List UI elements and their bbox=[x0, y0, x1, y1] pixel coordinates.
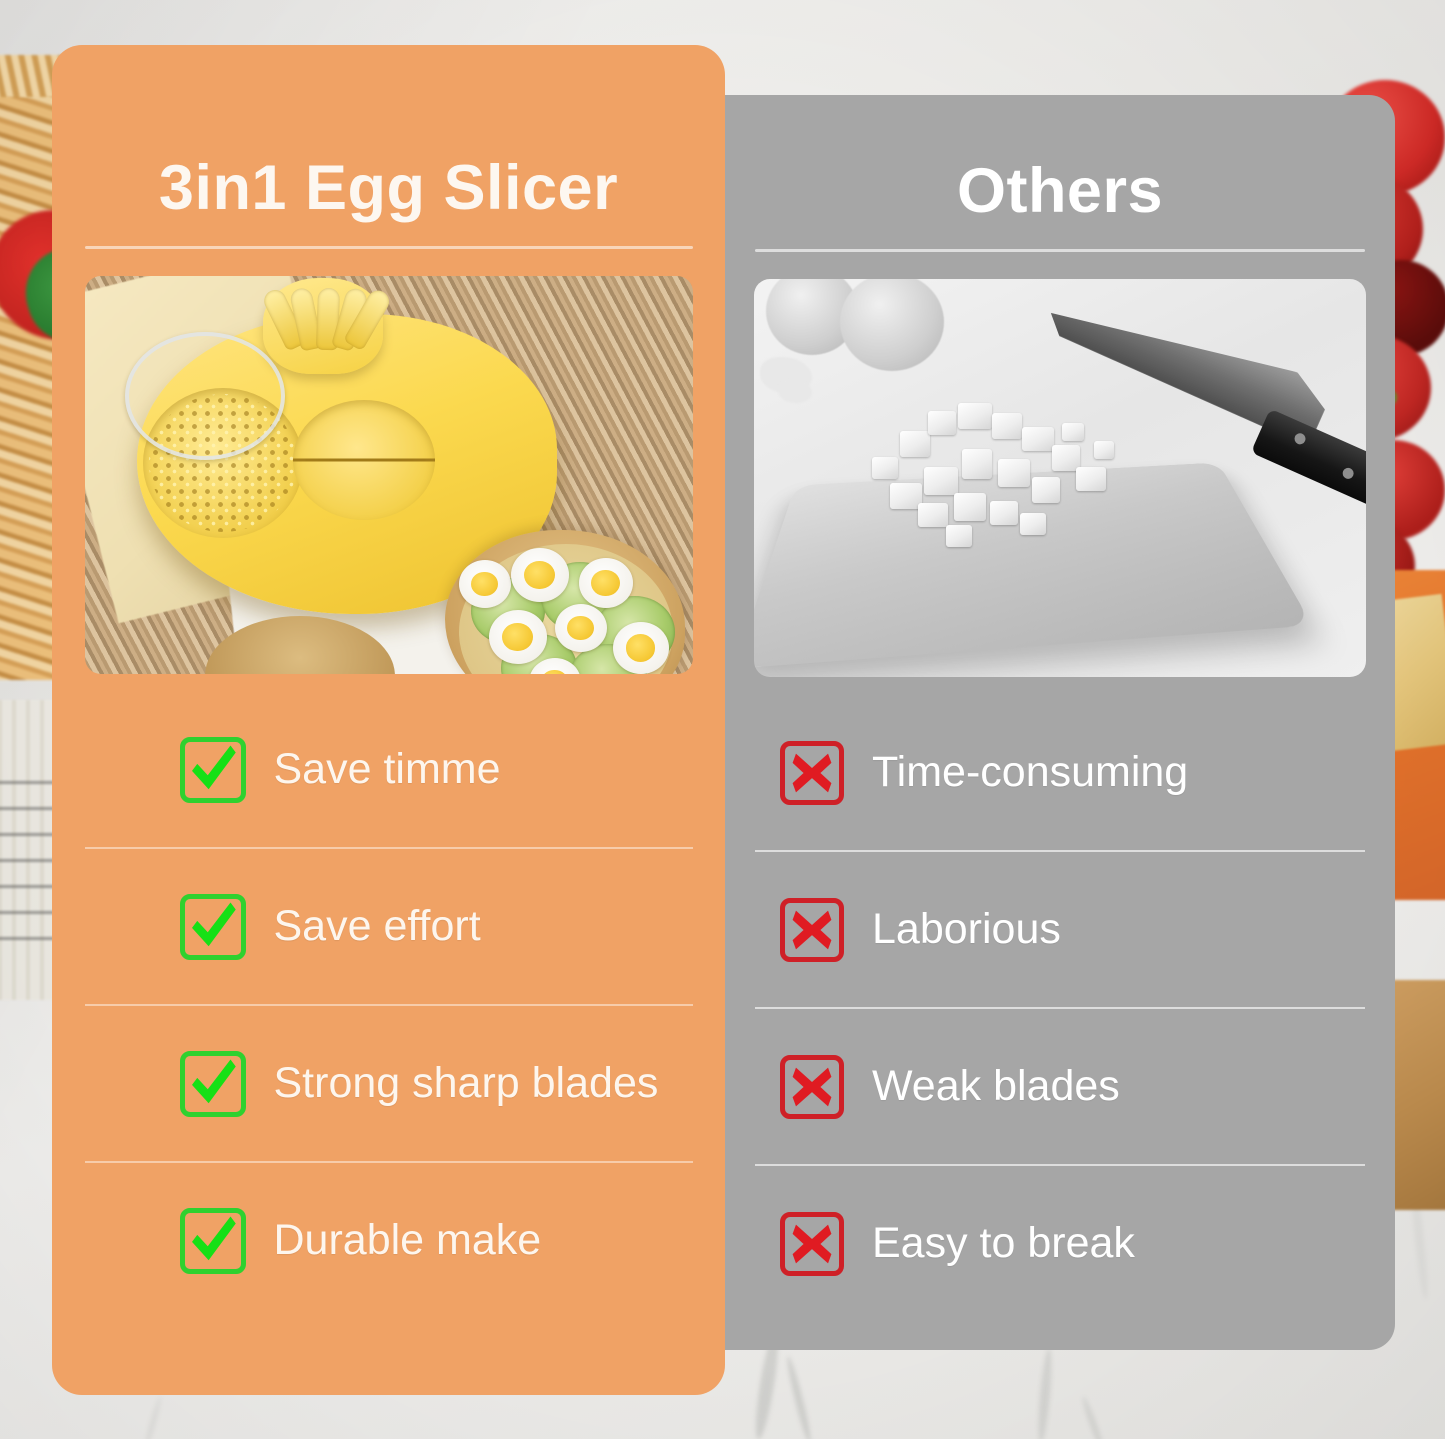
product-photo bbox=[85, 276, 693, 674]
list-item[interactable]: Weak blades bbox=[755, 1009, 1365, 1164]
others-panel: Others bbox=[725, 95, 1395, 1350]
list-item[interactable]: Save effort bbox=[85, 849, 693, 1004]
title-divider bbox=[755, 249, 1365, 252]
others-photo bbox=[754, 279, 1366, 677]
list-item-label: Strong sharp blades bbox=[274, 1061, 659, 1106]
comparison-infographic: Others bbox=[0, 0, 1445, 1439]
others-feature-list: Time-consuming Laborious Weak blad bbox=[755, 677, 1365, 1321]
list-item[interactable]: Laborious bbox=[755, 852, 1365, 1007]
product-panel: 3in1 Egg Slicer bbox=[52, 45, 725, 1395]
title-divider bbox=[85, 246, 693, 249]
list-item[interactable]: Strong sharp blades bbox=[85, 1006, 693, 1161]
list-item[interactable]: Time-consuming bbox=[755, 695, 1365, 850]
whole-egg bbox=[840, 279, 944, 371]
list-item[interactable]: Durable make bbox=[85, 1163, 693, 1318]
cross-icon bbox=[780, 1055, 844, 1119]
list-item-label: Time-consuming bbox=[872, 750, 1188, 795]
cross-icon bbox=[780, 898, 844, 962]
check-icon bbox=[180, 1051, 246, 1117]
slicer-wire-frame bbox=[125, 332, 285, 460]
list-item-label: Weak blades bbox=[872, 1064, 1120, 1109]
cross-icon bbox=[780, 1212, 844, 1276]
check-icon bbox=[180, 1208, 246, 1274]
list-item-label: Save effort bbox=[274, 904, 481, 949]
grayscale-kitchen-scene bbox=[754, 279, 1366, 677]
check-icon bbox=[180, 894, 246, 960]
others-title: Others bbox=[725, 95, 1395, 223]
list-item-label: Save timme bbox=[274, 747, 501, 792]
chopped-egg-pile bbox=[862, 397, 1162, 557]
list-item-label: Laborious bbox=[872, 907, 1061, 952]
list-item[interactable]: Easy to break bbox=[755, 1166, 1365, 1321]
check-icon bbox=[180, 737, 246, 803]
list-item-label: Durable make bbox=[274, 1218, 542, 1263]
list-item-label: Easy to break bbox=[872, 1221, 1135, 1266]
egg-shell bbox=[778, 379, 812, 403]
product-title: 3in1 Egg Slicer bbox=[52, 45, 725, 220]
cross-icon bbox=[780, 741, 844, 805]
egg-slicer-wedger-lid bbox=[263, 278, 383, 374]
egg-slicer-blades bbox=[293, 400, 435, 520]
list-item[interactable]: Save timme bbox=[85, 692, 693, 847]
product-feature-list: Save timme Save effort Strong shar bbox=[85, 674, 693, 1318]
